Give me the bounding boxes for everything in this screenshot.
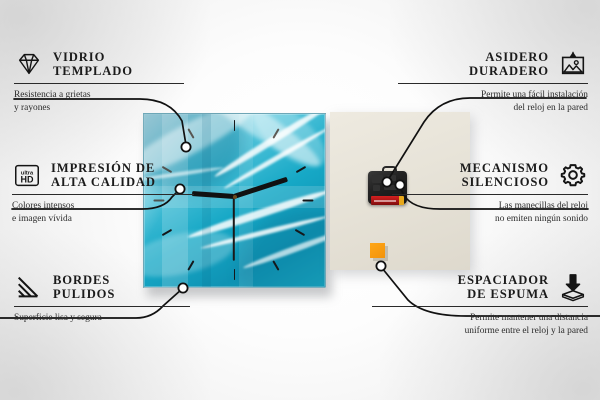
feature-impresion-alta-calidad: ultra HD IMPRESIÓN DE ALTA CALIDAD Color… [12, 160, 194, 226]
feature-divider [14, 306, 190, 307]
framed-picture-icon [558, 49, 588, 79]
gear-icon [558, 160, 588, 190]
feature-vidrio-templado: VIDRIO TEMPLADO Resistencia a grietas y … [14, 49, 184, 115]
svg-text:HD: HD [21, 175, 34, 185]
feature-title-line1: VIDRIO [53, 50, 133, 64]
feature-description: Colores intensos e imagen vívida [12, 200, 194, 225]
feature-title-line1: MECANISMO [460, 161, 549, 175]
feature-asidero-duradero: ASIDERO DURADERO Permite una fácil insta… [398, 49, 588, 115]
feature-title-line2: TEMPLADO [53, 64, 133, 78]
feature-divider [398, 83, 588, 84]
feature-bordes-pulidos: BORDES PULIDOS Superficie lisa y segura [14, 272, 190, 325]
feature-title-line1: BORDES [53, 273, 115, 287]
feature-divider [14, 83, 184, 84]
connector-dot-asidero [382, 177, 391, 186]
feature-divider [392, 194, 588, 195]
feature-title-line2: SILENCIOSO [460, 175, 549, 189]
feature-description: Permite mantener una distancia uniforme … [372, 312, 588, 337]
feature-title-line1: IMPRESIÓN DE [51, 161, 156, 175]
feature-divider [12, 194, 194, 195]
polished-edges-icon [14, 272, 44, 302]
infographic-canvas: VIDRIO TEMPLADO Resistencia a grietas y … [0, 0, 600, 400]
feature-description: Resistencia a grietas y rayones [14, 89, 184, 114]
feature-title-line2: DE ESPUMA [458, 287, 549, 301]
feature-mecanismo-silencioso: MECANISMO SILENCIOSO Las manecillas del … [392, 160, 588, 226]
feature-description: Las manecillas del reloj no emiten ningú… [392, 200, 588, 225]
feature-espaciador-de-espuma: ESPACIADOR DE ESPUMA Permite mantener un… [372, 272, 588, 338]
feature-title-line2: ALTA CALIDAD [51, 175, 156, 189]
foam-spacer-arrow-icon [558, 272, 588, 302]
connector-dot-vidrio-templado [181, 142, 190, 151]
feature-title-line2: DURADERO [469, 64, 549, 78]
feature-title-line2: PULIDOS [53, 287, 115, 301]
feature-description: Superficie lisa y segura [14, 312, 190, 325]
feature-title-line1: ESPACIADOR [458, 273, 549, 287]
connector-dot-espaciador [376, 261, 385, 270]
feature-divider [372, 306, 588, 307]
feature-title-line1: ASIDERO [469, 50, 549, 64]
feature-description: Permite una fácil instalación del reloj … [398, 89, 588, 114]
diamond-icon [14, 49, 44, 79]
ultra-hd-icon: ultra HD [12, 160, 42, 190]
